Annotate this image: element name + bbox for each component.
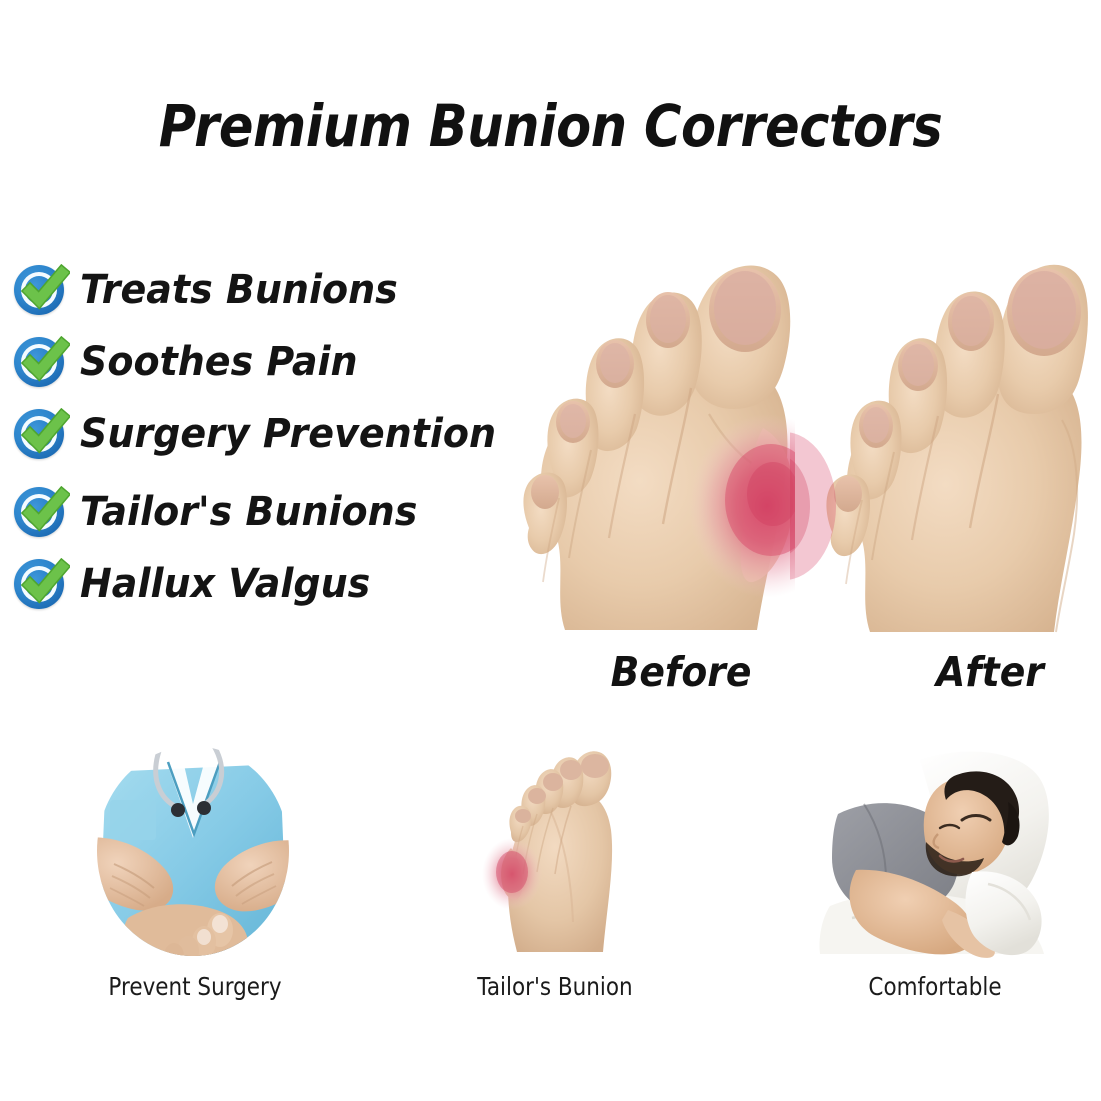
before-label: Before bbox=[575, 648, 787, 696]
infographic-canvas: Premium Bunion Correctors Treats Bunions bbox=[0, 0, 1101, 1101]
after-label: After bbox=[889, 648, 1091, 696]
check-mark-icon bbox=[18, 486, 70, 538]
blue-circle-green-check-icon bbox=[12, 406, 68, 462]
feature-label: Tailor's Bunions bbox=[80, 492, 417, 532]
check-mark-icon bbox=[18, 408, 70, 460]
man-sleeping-photo bbox=[812, 742, 1052, 960]
tailors-bunion-foot-photo bbox=[455, 742, 645, 960]
benefit-caption: Comfortable bbox=[828, 972, 1043, 1001]
blue-circle-green-check-icon bbox=[12, 484, 68, 540]
feature-label: Soothes Pain bbox=[80, 342, 358, 382]
before-foot-photo bbox=[495, 238, 795, 650]
list-item: Soothes Pain bbox=[12, 334, 532, 390]
feature-label: Treats Bunions bbox=[80, 270, 398, 310]
list-item: Surgery Prevention bbox=[12, 406, 532, 462]
feature-label: Hallux Valgus bbox=[80, 564, 370, 604]
list-item: Treats Bunions bbox=[12, 262, 532, 318]
check-mark-icon bbox=[18, 336, 70, 388]
benefit-thumbnails bbox=[0, 742, 1101, 972]
blue-circle-green-check-icon bbox=[12, 334, 68, 390]
doctor-examining-foot-photo bbox=[88, 742, 298, 960]
check-mark-icon bbox=[18, 264, 70, 316]
before-after-comparison bbox=[495, 238, 1095, 658]
blue-circle-green-check-icon bbox=[12, 556, 68, 612]
page-title: Premium Bunion Correctors bbox=[66, 92, 1035, 160]
blue-circle-green-check-icon bbox=[12, 262, 68, 318]
benefit-caption: Tailor's Bunion bbox=[452, 972, 658, 1001]
check-mark-icon bbox=[18, 558, 70, 610]
feature-list: Treats Bunions Soothes Pain bbox=[12, 262, 532, 628]
benefit-caption: Prevent Surgery bbox=[92, 972, 298, 1001]
after-foot-photo bbox=[790, 238, 1090, 650]
list-item: Hallux Valgus bbox=[12, 556, 532, 612]
feature-label: Surgery Prevention bbox=[80, 414, 496, 454]
list-item: Tailor's Bunions bbox=[12, 484, 532, 540]
